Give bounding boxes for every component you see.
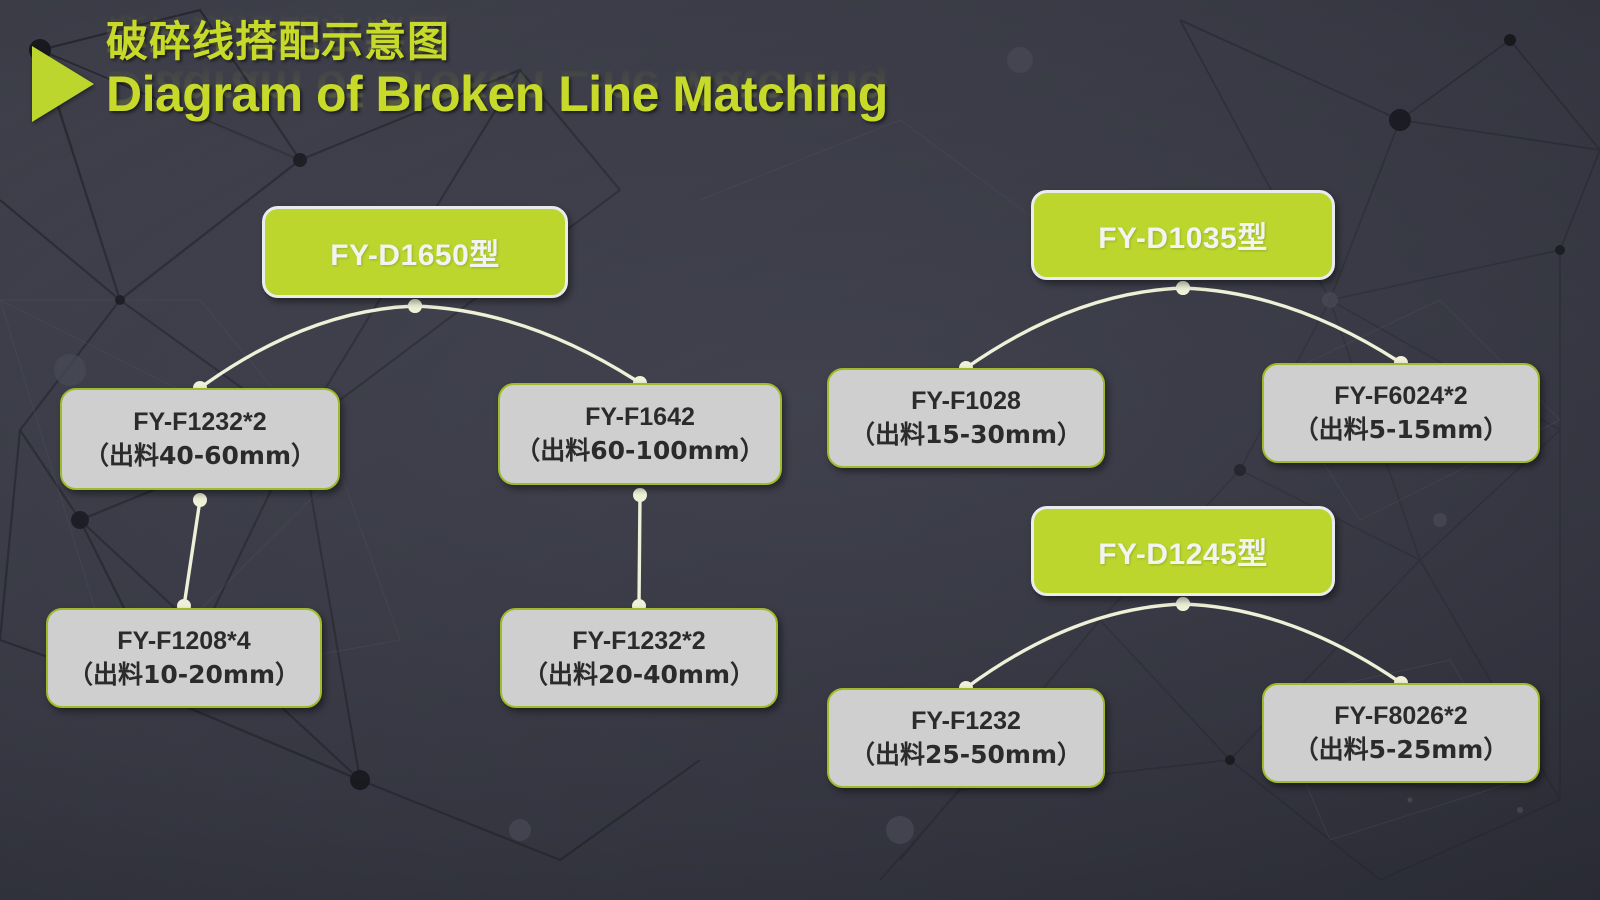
node-label: FY-D1650型 <box>330 230 500 274</box>
diagram-node-f1232c[interactable]: FY-F1232（出料25-50mm） <box>827 688 1105 788</box>
node-output-size-label: （出料20-40mm） <box>523 658 755 691</box>
play-triangle-icon <box>32 46 94 122</box>
diagram-node-f1232x2a[interactable]: FY-F1232*2（出料40-60mm） <box>60 388 340 490</box>
diagram-node-d1650[interactable]: FY-D1650型 <box>262 206 568 298</box>
node-model-label: FY-F1028 <box>911 385 1021 418</box>
node-output-size-label: （出料60-100mm） <box>515 434 764 467</box>
node-output-size-label: （出料40-60mm） <box>84 439 316 472</box>
diagram-node-f1208x4[interactable]: FY-F1208*4（出料10-20mm） <box>46 608 322 708</box>
node-model-label: FY-F6024*2 <box>1334 380 1467 413</box>
node-model-label: FY-F1208*4 <box>117 625 250 658</box>
diagram-node-d1245[interactable]: FY-D1245型 <box>1031 506 1335 596</box>
node-output-size-label: （出料25-50mm） <box>850 738 1082 771</box>
node-model-label: FY-F8026*2 <box>1334 700 1467 733</box>
diagram-node-f1642[interactable]: FY-F1642（出料60-100mm） <box>498 383 782 485</box>
node-model-label: FY-F1232 <box>911 705 1021 738</box>
title-lines: 破碎线搭配示意图 Diagram of Broken Line Matching… <box>106 18 888 122</box>
node-output-size-label: （出料10-20mm） <box>68 658 300 691</box>
page-header: 破碎线搭配示意图 Diagram of Broken Line Matching… <box>30 18 888 122</box>
node-output-size-label: （出料15-30mm） <box>850 418 1082 451</box>
page-title-cn: 破碎线搭配示意图 <box>106 18 888 66</box>
node-model-label: FY-F1232*2 <box>572 625 705 658</box>
node-model-label: FY-F1232*2 <box>133 406 266 439</box>
diagram-node-f6024x2[interactable]: FY-F6024*2（出料5-15mm） <box>1262 363 1540 463</box>
node-label: FY-D1035型 <box>1098 213 1268 257</box>
diagram-node-f8026x2[interactable]: FY-F8026*2（出料5-25mm） <box>1262 683 1540 783</box>
node-output-size-label: （出料5-15mm） <box>1294 413 1509 446</box>
node-output-size-label: （出料5-25mm） <box>1294 733 1509 766</box>
node-label: FY-D1245型 <box>1098 529 1268 573</box>
page-title-en: Diagram of Broken Line Matching <box>106 66 888 122</box>
diagram-node-f1232x2b[interactable]: FY-F1232*2（出料20-40mm） <box>500 608 778 708</box>
node-model-label: FY-F1642 <box>585 401 695 434</box>
diagram-node-f1028[interactable]: FY-F1028（出料15-30mm） <box>827 368 1105 468</box>
diagram-node-d1035[interactable]: FY-D1035型 <box>1031 190 1335 280</box>
